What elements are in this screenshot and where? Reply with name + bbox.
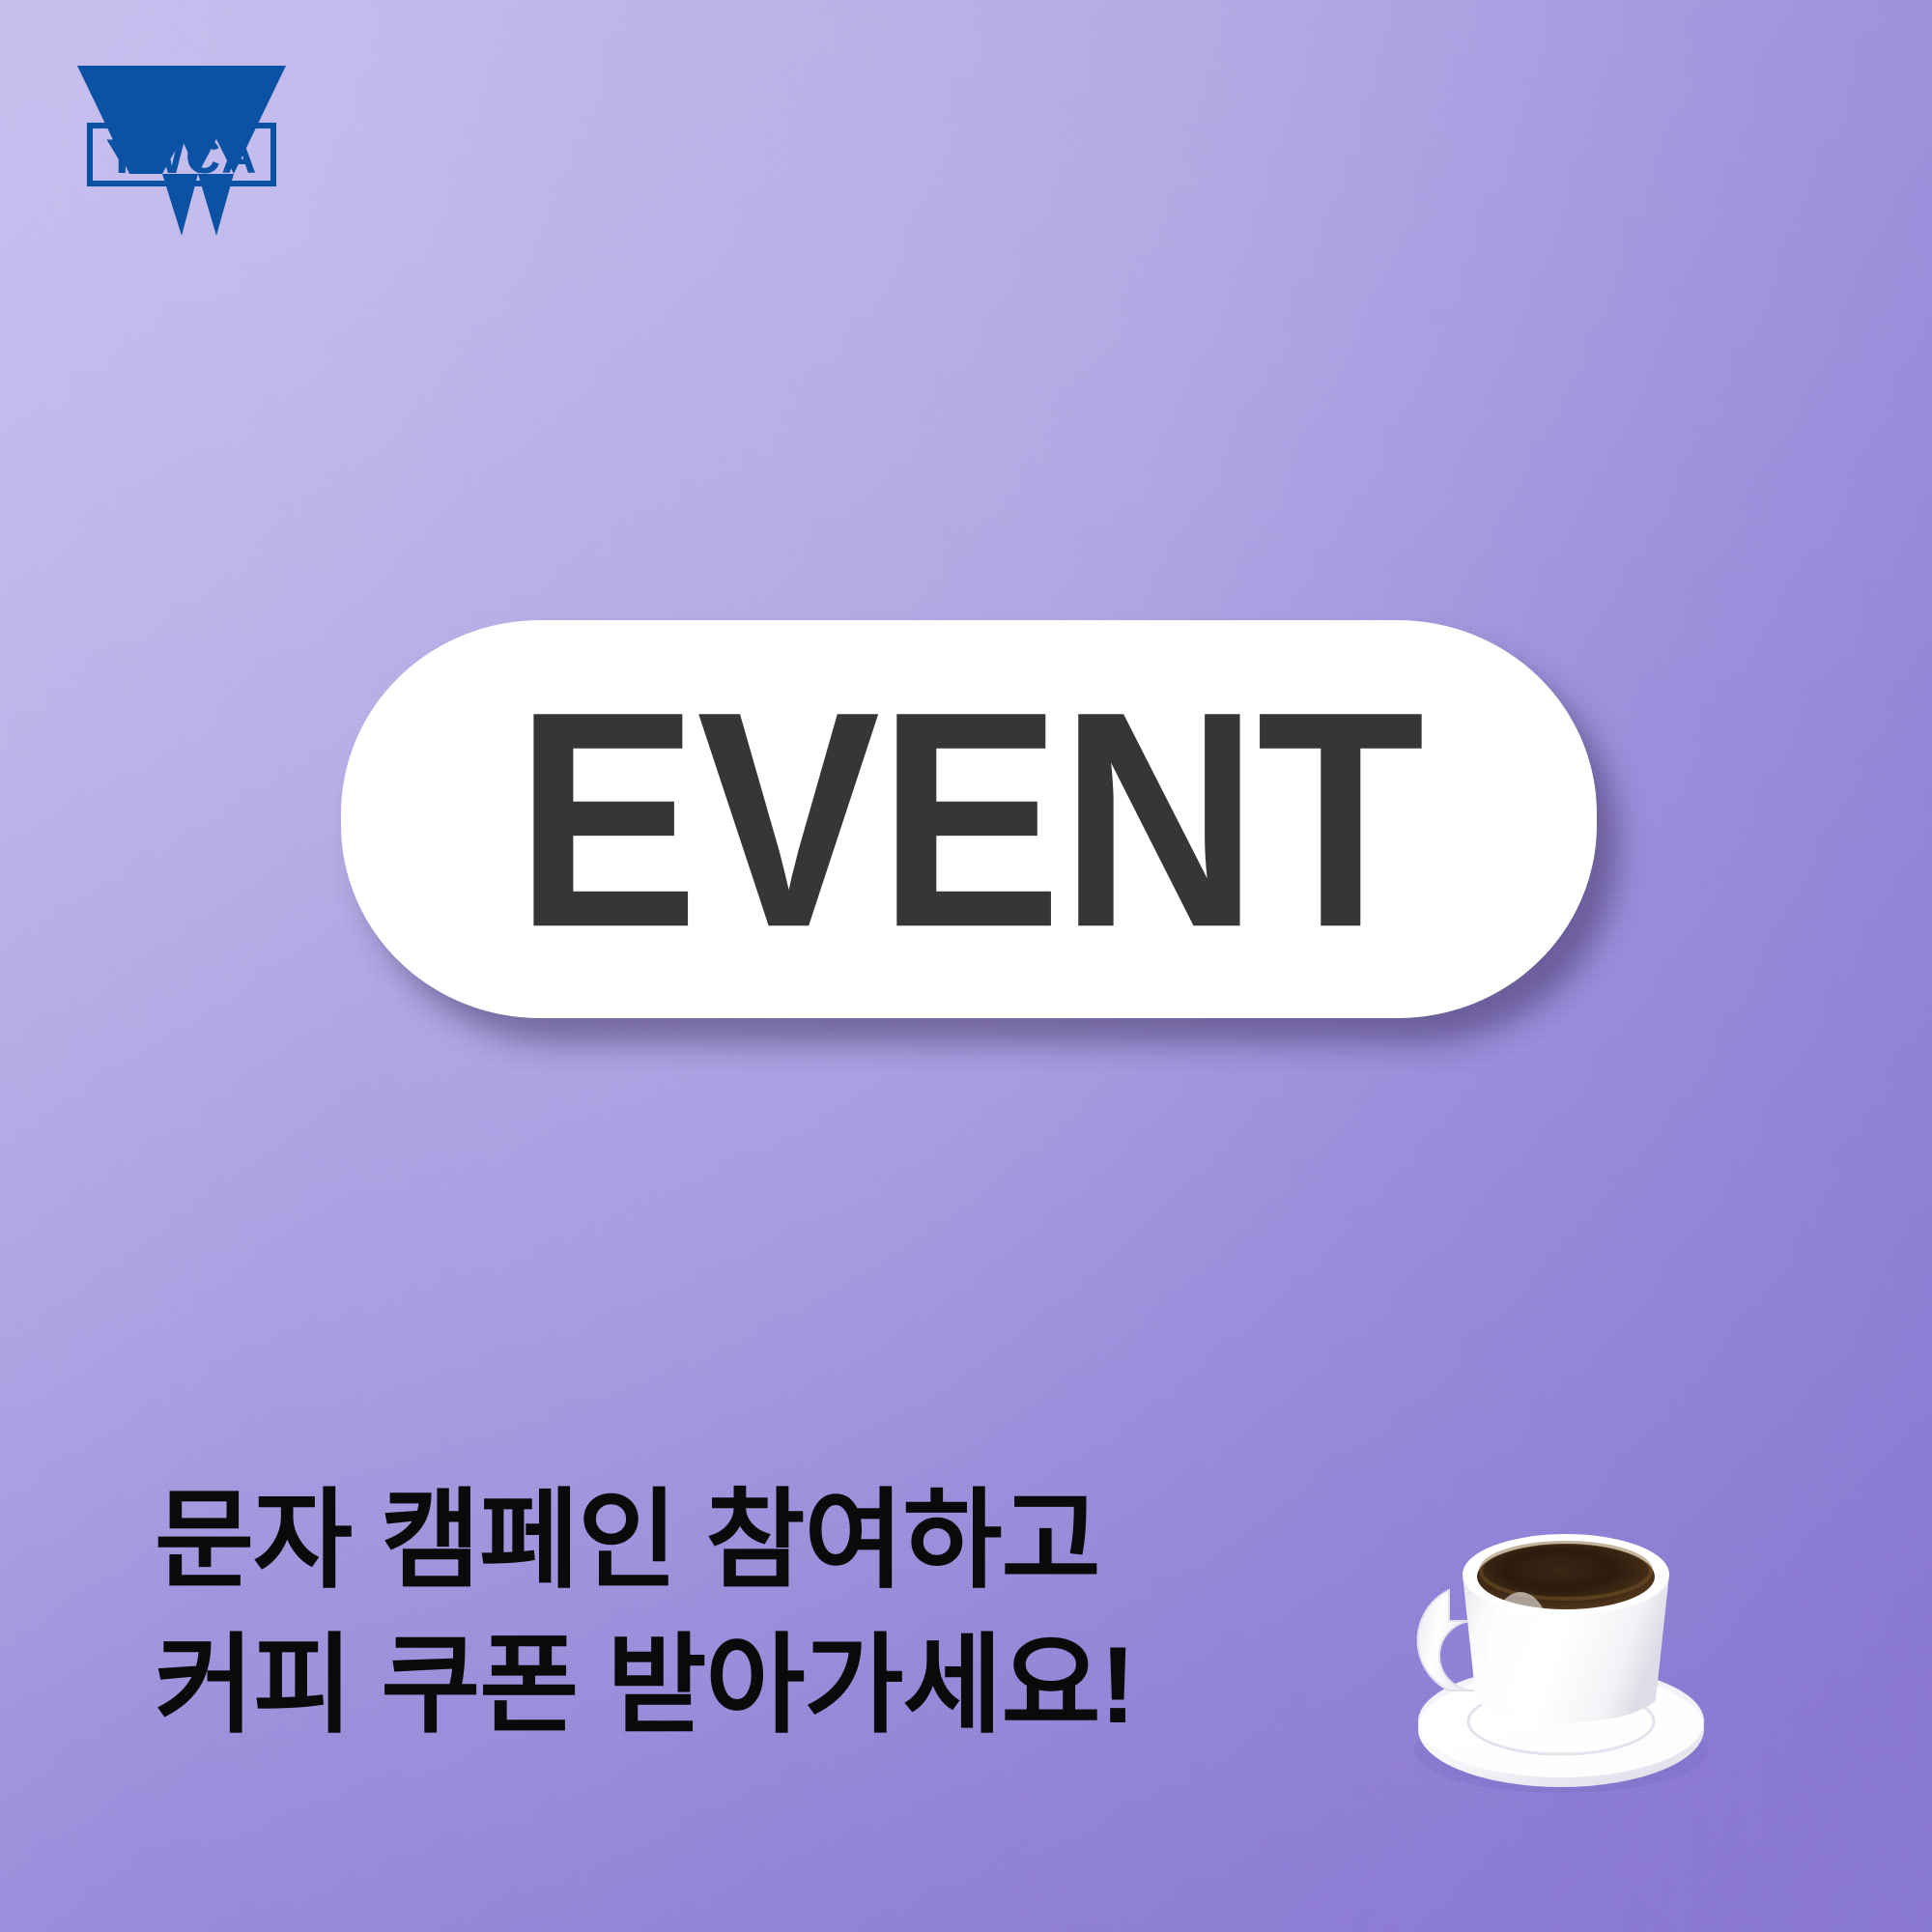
event-badge-label: EVENT [515,694,1422,946]
cup-handle [1418,1590,1474,1690]
headline-line-1: 문자 캠페인 참여하고 [155,1468,1265,1613]
coffee-cup-illustration [1341,1410,1747,1816]
ywca-wordmark: YWCA [106,129,258,184]
headline: 문자 캠페인 참여하고 커피 쿠폰 받아가세요! [155,1468,1265,1758]
headline-line-2: 커피 쿠폰 받아가세요! [155,1613,1265,1758]
event-badge: EVENT [341,620,1597,1018]
event-poster: YWCA EVENT 문자 캠페인 참여하고 커피 쿠폰 받아가세요! [0,0,1932,1932]
ywca-logo: YWCA [62,60,301,243]
